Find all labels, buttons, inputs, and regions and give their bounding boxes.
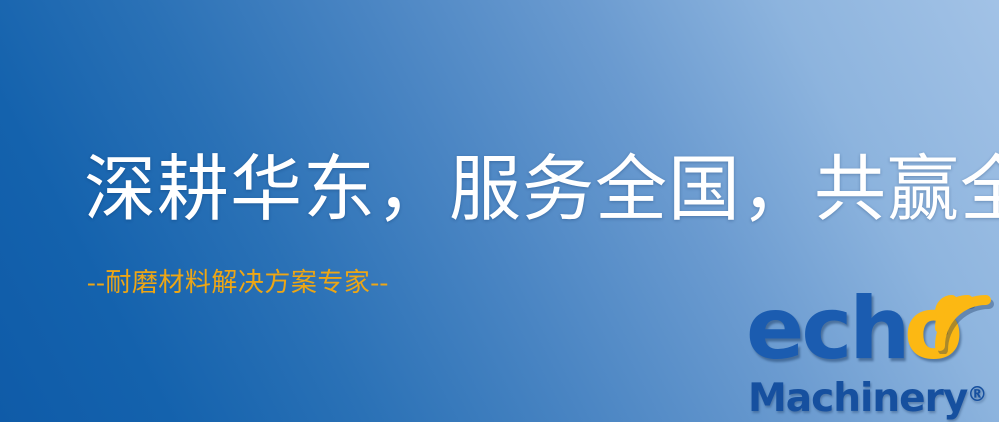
banner-subheadline: --耐磨材料解决方案专家-- <box>87 266 389 300</box>
logo-tagline: Machinery® <box>748 372 987 421</box>
logo-wordmark: ech o <box>744 296 999 378</box>
registered-trademark-icon: ® <box>967 382 987 406</box>
logo-tagline-text: Machinery <box>748 376 967 421</box>
logo-brand-prefix-text: ech <box>746 286 908 372</box>
company-logo: ech o Machinery® <box>744 296 999 422</box>
promo-banner: 深耕华东，服务全国，共赢全球 --耐磨材料解决方案专家-- ech o Mach… <box>0 0 999 422</box>
banner-headline: 深耕华东，服务全国，共赢全球 <box>84 150 999 230</box>
signal-wave-icon <box>930 288 999 354</box>
